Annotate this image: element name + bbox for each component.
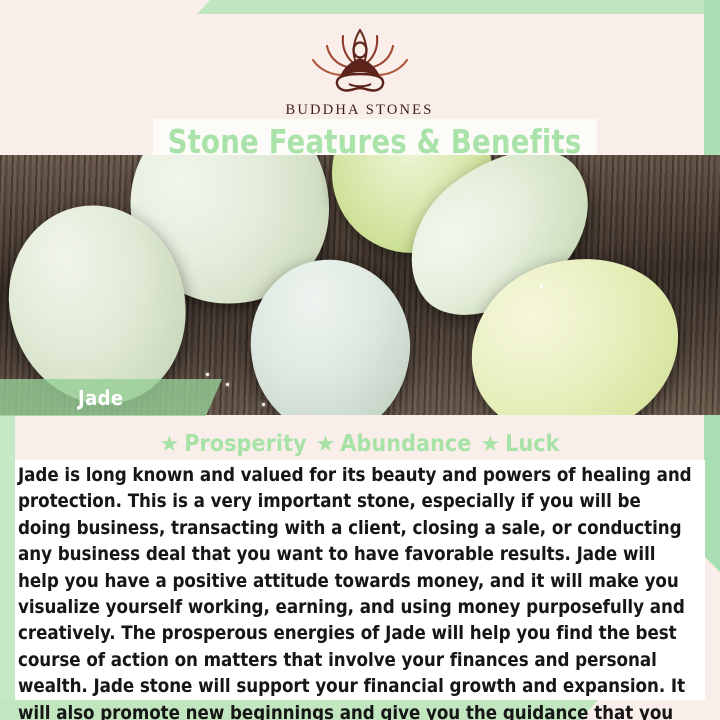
brand-logo: BUDDHA STONES [15, 22, 704, 119]
decor-left-green-strip-lower [0, 415, 15, 720]
decor-top-green-band [196, 0, 720, 15]
benefit-item-abundance: ★ Abundance [316, 431, 472, 457]
benefit-label: Abundance [340, 431, 471, 457]
stone-benefits-infographic: BUDDHA STONES Stone Features & Benefits … [0, 0, 720, 720]
benefit-label: Luck [505, 431, 559, 457]
star-icon: ★ [316, 433, 336, 455]
star-icon: ★ [160, 433, 180, 455]
description-block: Jade is long known and valued for its be… [15, 460, 705, 700]
benefit-label: Prosperity [184, 431, 306, 457]
brand-name: BUDDHA STONES [15, 102, 704, 119]
benefit-item-prosperity: ★ Prosperity [160, 431, 307, 457]
sparkle-highlight [226, 383, 229, 386]
stone-photo [0, 155, 720, 415]
header: BUDDHA STONES Stone Features & Benefits [15, 14, 704, 154]
sparkle-highlight [262, 403, 265, 406]
benefit-item-luck: ★ Luck [480, 431, 559, 457]
stone-caption-band: Jade [0, 379, 222, 416]
sparkle-highlight [206, 373, 209, 376]
star-icon: ★ [480, 433, 500, 455]
lotus-meditation-icon [285, 22, 435, 100]
stone-caption: Jade [78, 386, 124, 410]
sparkle-highlight [540, 285, 543, 288]
benefits-row: ★ Prosperity ★ Abundance ★ Luck [15, 428, 704, 460]
description-text: Jade is long known and valued for its be… [18, 463, 699, 720]
